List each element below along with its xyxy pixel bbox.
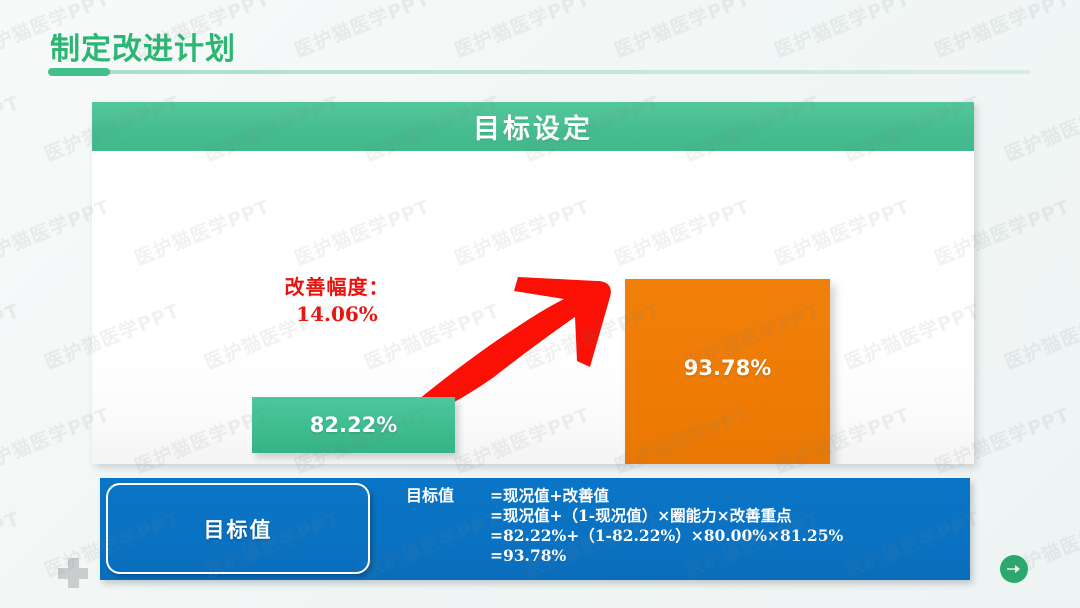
page-title: 制定改进计划	[50, 24, 236, 68]
card-header: 目标设定	[92, 102, 974, 151]
bar-improve-before[interactable]: 82.22%	[252, 397, 455, 453]
formula-line: =93.78%	[490, 546, 966, 566]
watermark-text: 医护猫医学PPT	[290, 0, 433, 63]
formula-tag-label: 目标值	[204, 514, 273, 544]
card-header-title: 目标设定	[473, 107, 593, 146]
formula-tag: 目标值	[106, 483, 370, 574]
formula-body: 目标值 =现况值+改善值 =现况值+（1-现况值）×圈能力×改善重点 =82.2…	[406, 486, 966, 567]
watermark-text: 医护猫医学PPT	[610, 0, 753, 63]
formula-line: =82.22%+（1-82.22%）×80.00%×81.25%	[490, 526, 966, 546]
watermark-text: 医护猫医学PPT	[0, 88, 24, 167]
formula-key: 目标值	[406, 486, 490, 507]
next-slide-button[interactable]	[1000, 555, 1028, 583]
formula-lines: =现况值+改善值 =现况值+（1-现况值）×圈能力×改善重点 =82.22%+（…	[490, 486, 966, 567]
formula-line: =现况值+改善值	[490, 486, 966, 506]
watermark-text: 医护猫医学PPT	[1000, 296, 1080, 375]
watermark-text: 医护猫医学PPT	[0, 296, 24, 375]
watermark-text: 医护猫医学PPT	[1000, 88, 1080, 167]
plus-decoration-icon	[58, 558, 88, 588]
watermark-text: 医护猫医学PPT	[0, 504, 24, 583]
formula-panel: 目标值 目标值 =现况值+改善值 =现况值+（1-现况值）×圈能力×改善重点 =…	[100, 478, 970, 580]
bar-target-value[interactable]: 93.78%	[625, 279, 830, 464]
card-body: 改善幅度： 14.06% 82.22% 93.78% 改善前 目标值	[92, 151, 974, 464]
bar-chart: 改善幅度： 14.06% 82.22% 93.78% 改善前 目标值	[92, 151, 974, 464]
watermark-text: 医护猫医学PPT	[930, 0, 1073, 63]
bar-value-before: 82.22%	[310, 413, 397, 437]
title-underline-cap	[48, 68, 110, 76]
play-arrow-icon	[1006, 563, 1022, 575]
bar-value-target: 93.78%	[684, 356, 771, 380]
watermark-text: 医护猫医学PPT	[770, 0, 913, 63]
goal-setting-card: 目标设定 改善幅度： 14.06% 82.22% 93.78% 改善前 目标值	[92, 102, 974, 464]
watermark-text: 医护猫医学PPT	[450, 0, 593, 63]
formula-line: =现况值+（1-现况值）×圈能力×改善重点	[490, 506, 966, 526]
title-underline-rule	[48, 70, 1030, 74]
